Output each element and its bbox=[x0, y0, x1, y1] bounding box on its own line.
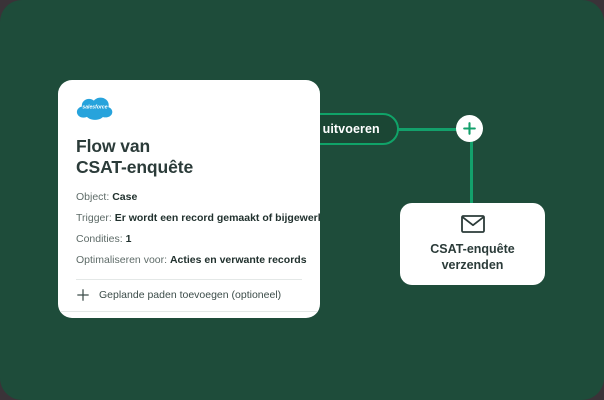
action-add-scheduled-paths[interactable]: Geplande paden toevoegen (optioneel) bbox=[58, 280, 320, 311]
meta-conditions-value: 1 bbox=[126, 233, 132, 245]
connector-horizontal bbox=[392, 128, 460, 131]
plus-icon bbox=[462, 121, 477, 136]
email-node-card[interactable]: CSAT-enquête verzenden bbox=[400, 203, 545, 285]
flow-card-body: salesforce Flow van CSAT-enquête Object:… bbox=[58, 80, 320, 280]
flow-card[interactable]: salesforce Flow van CSAT-enquête Object:… bbox=[58, 80, 320, 318]
meta-trigger-label: Trigger: bbox=[76, 212, 112, 224]
meta-optimize-label: Optimaliseren voor: bbox=[76, 254, 167, 266]
email-node-label-line1: CSAT-enquête bbox=[430, 241, 515, 257]
meta-trigger-value: Er wordt een record gemaakt of bijgewerk… bbox=[115, 212, 320, 224]
meta-optimize: Optimaliseren voor: Acties en verwante r… bbox=[76, 254, 302, 267]
salesforce-wordmark: salesforce bbox=[82, 105, 107, 111]
flow-card-title: Flow van CSAT-enquête bbox=[76, 136, 302, 179]
email-node-label-line2: verzenden bbox=[430, 257, 515, 273]
salesforce-logo: salesforce bbox=[76, 96, 114, 123]
flow-card-title-line2: CSAT-enquête bbox=[76, 157, 302, 178]
email-node-label: CSAT-enquête verzenden bbox=[430, 241, 515, 273]
meta-conditions-label: Condities: bbox=[76, 233, 123, 245]
flow-card-title-line1: Flow van bbox=[76, 136, 302, 157]
add-element-button[interactable] bbox=[456, 115, 483, 142]
envelope-icon bbox=[461, 215, 485, 233]
plus-icon bbox=[76, 288, 90, 302]
action-add-scheduled-paths-label: Geplande paden toevoegen (optioneel) bbox=[99, 289, 281, 301]
meta-object-value: Case bbox=[112, 191, 137, 203]
meta-object: Object: Case bbox=[76, 191, 302, 204]
meta-object-label: Object: bbox=[76, 191, 109, 203]
meta-trigger: Trigger: Er wordt een record gemaakt of … bbox=[76, 212, 302, 225]
meta-conditions: Condities: 1 bbox=[76, 233, 302, 246]
flow-canvas: Direct uitvoeren salesforce Flow van bbox=[0, 0, 604, 400]
meta-optimize-value: Acties en verwante records bbox=[170, 254, 307, 266]
action-open-flow-trigger-explorer[interactable]: Verkenner flowtrigger voor case openen bbox=[58, 312, 320, 318]
